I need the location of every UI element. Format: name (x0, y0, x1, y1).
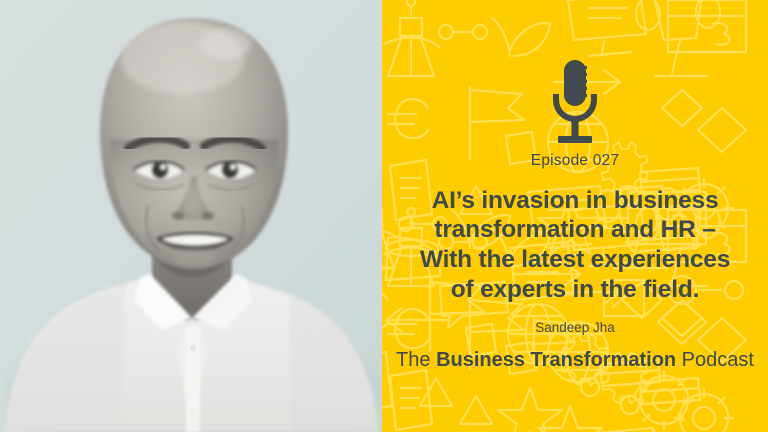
episode-title-line-1: AI’s invasion in business (420, 186, 730, 216)
show-name-suffix: Podcast (676, 349, 754, 371)
episode-title: AI’s invasion in business transformation… (420, 186, 730, 306)
guest-photo-pane (0, 0, 382, 432)
episode-title-line-4: of experts in the field. (420, 275, 730, 305)
episode-content: Episode 027 AI’s invasion in business tr… (382, 0, 768, 432)
episode-title-line-2: transformation and HR – (420, 215, 730, 245)
episode-title-line-3: With the latest experiences (420, 245, 730, 275)
podcast-episode-cover: Episode 027 AI’s invasion in business tr… (0, 0, 768, 432)
show-name-brand: Business Transformation (436, 349, 676, 371)
show-name-prefix: The (396, 349, 436, 371)
episode-info-pane: Episode 027 AI’s invasion in business tr… (382, 0, 768, 432)
microphone-icon (546, 60, 604, 144)
guest-portrait-photo (0, 0, 382, 432)
podcast-show-name: The Business Transformation Podcast (396, 350, 754, 370)
guest-speaker-name: Sandeep Jha (535, 321, 615, 335)
episode-number-label: Episode 027 (531, 153, 619, 169)
